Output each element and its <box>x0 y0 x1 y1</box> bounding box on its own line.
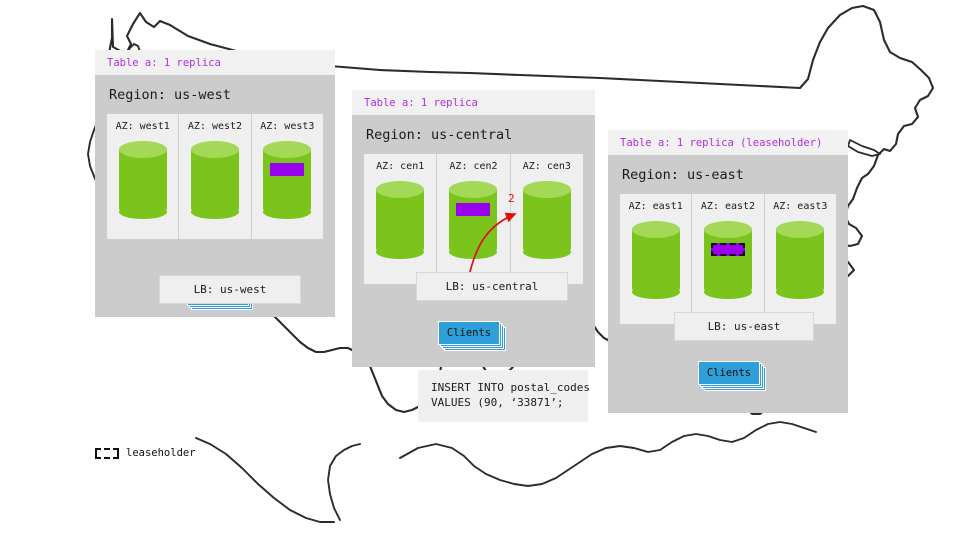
az-cell-cen3[interactable]: AZ: cen3 <box>511 154 583 284</box>
node-cylinder-west2[interactable] <box>191 141 239 219</box>
cylinder-top <box>704 221 752 238</box>
replica-marker <box>456 203 490 216</box>
node-cylinder-cen2[interactable] <box>449 181 497 259</box>
cylinder-bottom <box>523 245 571 259</box>
load-balancer-us-central[interactable]: LB: us-central <box>416 272 568 301</box>
card-title-bar-us-central: Table a: 1 replica <box>352 90 595 115</box>
region-card-us-west: Table a: 1 replica Region: us-west AZ: w… <box>95 50 335 317</box>
legend: leaseholder <box>95 447 196 459</box>
table-replica-title: Table a: 1 replica <box>364 97 583 109</box>
az-cell-west1[interactable]: AZ: west1 <box>107 114 179 239</box>
az-cell-cen1[interactable]: AZ: cen1 <box>364 154 437 284</box>
node-cylinder-cen3[interactable] <box>523 181 571 259</box>
az-cell-west2[interactable]: AZ: west2 <box>179 114 251 239</box>
sql-line-2: VALUES (90, ‘33871’; <box>431 395 575 410</box>
cylinder-top <box>523 181 571 198</box>
sql-line-1: INSERT INTO postal_codes <box>431 380 575 395</box>
cylinder-bottom <box>263 205 311 219</box>
az-label: AZ: east2 <box>701 201 755 212</box>
card-title-bar-us-east: Table a: 1 replica (leaseholder) <box>608 130 848 155</box>
cylinder-bottom <box>776 285 824 299</box>
cylinder-top <box>376 181 424 198</box>
table-replica-title: Table a: 1 replica <box>107 57 323 69</box>
cylinder-bottom <box>376 245 424 259</box>
node-cylinder-east2[interactable] <box>704 221 752 299</box>
arrow-step-label: 2 <box>508 192 515 205</box>
az-cell-cen2[interactable]: AZ: cen2 <box>437 154 510 284</box>
az-cell-west3[interactable]: AZ: west3 <box>252 114 323 239</box>
sql-statement-box: INSERT INTO postal_codes VALUES (90, ‘33… <box>418 370 588 422</box>
table-replica-title: Table a: 1 replica (leaseholder) <box>620 137 836 149</box>
load-balancer-us-west[interactable]: LB: us-west <box>159 275 301 304</box>
node-cylinder-east3[interactable] <box>776 221 824 299</box>
region-label: Region: us-central <box>366 127 583 143</box>
cylinder-bottom <box>119 205 167 219</box>
node-cylinder-east1[interactable] <box>632 221 680 299</box>
region-label: Region: us-east <box>622 167 836 183</box>
az-label: AZ: west3 <box>260 121 314 132</box>
cylinder-top <box>191 141 239 158</box>
texas-coast-detail <box>328 444 360 520</box>
az-cell-east1[interactable]: AZ: east1 <box>620 194 692 324</box>
replica-marker <box>270 163 304 176</box>
card-title-bar-us-west: Table a: 1 replica <box>95 50 335 75</box>
long-island-detail <box>848 140 880 156</box>
region-card-us-east: Table a: 1 replica (leaseholder) Region:… <box>608 130 848 413</box>
az-label: AZ: west1 <box>116 121 170 132</box>
az-label: AZ: cen1 <box>376 161 424 172</box>
az-label: AZ: cen3 <box>523 161 571 172</box>
region-label: Region: us-west <box>109 87 323 103</box>
region-card-us-central: Table a: 1 replica Region: us-central AZ… <box>352 90 595 367</box>
lb-label: LB: us-west <box>194 283 267 296</box>
az-cell-east3[interactable]: AZ: east3 <box>765 194 836 324</box>
legend-label: leaseholder <box>126 447 196 459</box>
lb-label: LB: us-central <box>446 280 539 293</box>
cylinder-bottom <box>191 205 239 219</box>
southwest-border-detail <box>196 438 334 522</box>
gulf-coast-detail <box>400 422 816 486</box>
az-label: AZ: east3 <box>773 201 827 212</box>
az-strip-us-east: AZ: east1 AZ: east2 AZ: east3 <box>620 194 836 324</box>
az-label: AZ: west2 <box>188 121 242 132</box>
az-strip-us-central: AZ: cen1 AZ: cen2 AZ: cen3 <box>364 154 583 284</box>
node-cylinder-cen1[interactable] <box>376 181 424 259</box>
node-cylinder-west3[interactable] <box>263 141 311 219</box>
clients-label: Clients <box>707 367 751 379</box>
clients-label: Clients <box>447 327 491 339</box>
node-cylinder-west1[interactable] <box>119 141 167 219</box>
cylinder-top <box>119 141 167 158</box>
cylinder-bottom <box>449 245 497 259</box>
clients-stack-us-east[interactable]: Clients <box>698 361 764 387</box>
cylinder-top <box>632 221 680 238</box>
clients-button[interactable]: Clients <box>698 361 760 385</box>
az-strip-us-west: AZ: west1 AZ: west2 AZ: west3 <box>107 114 323 239</box>
lb-label: LB: us-east <box>708 320 781 333</box>
cylinder-bottom <box>704 285 752 299</box>
cylinder-top <box>263 141 311 158</box>
az-label: AZ: cen2 <box>449 161 497 172</box>
dashed-rect-swatch <box>95 448 119 459</box>
cylinder-bottom <box>632 285 680 299</box>
cylinder-top <box>776 221 824 238</box>
leaseholder-marker <box>711 243 745 256</box>
az-cell-east2[interactable]: AZ: east2 <box>692 194 764 324</box>
az-label: AZ: east1 <box>629 201 683 212</box>
clients-stack-us-central[interactable]: Clients <box>438 321 504 347</box>
clients-button[interactable]: Clients <box>438 321 500 345</box>
load-balancer-us-east[interactable]: LB: us-east <box>674 312 814 341</box>
